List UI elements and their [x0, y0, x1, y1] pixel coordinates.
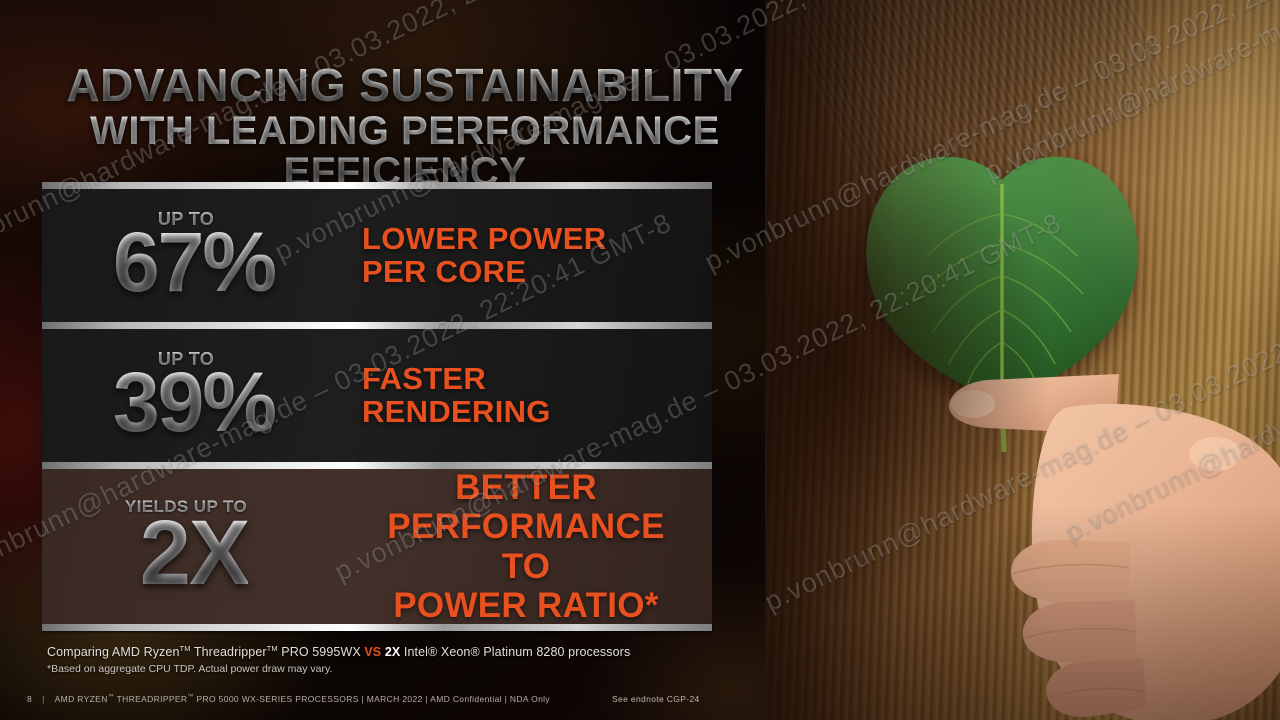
footnote-model: PRO 5995WX [278, 645, 365, 659]
metallic-divider-top [42, 182, 712, 189]
footnote-tm-1: TM [180, 644, 191, 653]
title-line-2: WITH LEADING PERFORMANCE EFFICIENCY [60, 111, 750, 193]
footnote-prefix: Comparing AMD Ryzen [47, 645, 180, 659]
stat-label-line-1: FASTER [362, 363, 712, 396]
footer-meta-prefix: AMD RYZEN [55, 694, 108, 704]
slide-footer: 8 | AMD RYZEN™ THREADRIPPER™ PRO 5000 WX… [0, 688, 765, 710]
photo-lighting-overlay [765, 0, 1280, 720]
stat-label-line-2: PER CORE [362, 256, 712, 289]
stat-value-group: YIELDS UP TO 2X [42, 497, 362, 596]
page-number: 8 [27, 694, 32, 704]
footnote-competitor: Intel® Xeon® Platinum 8280 processors [400, 645, 630, 659]
stat-value-group: UP TO 39% [42, 349, 362, 441]
stat-value: 67% [113, 224, 275, 301]
footer-meta: AMD RYZEN™ THREADRIPPER™ PRO 5000 WX-SER… [55, 694, 550, 704]
footnote-mid: Threadripper [191, 645, 267, 659]
stat-value-group: UP TO 67% [42, 209, 362, 301]
stats-panel: UP TO 67% LOWER POWER PER CORE UP TO 39%… [42, 182, 712, 631]
stat-label-group: BETTER PERFORMANCE TO POWER RATIO* [362, 469, 712, 624]
footer-meta-mid: THREADRIPPER [114, 694, 187, 704]
stat-label-line-1: LOWER POWER [362, 223, 712, 256]
footnote-multiplier: 2X [385, 645, 401, 659]
metallic-divider-1 [42, 322, 712, 329]
stat-value: 2X [140, 511, 249, 596]
page-title: ADVANCING SUSTAINABILITY WITH LEADING PE… [60, 62, 750, 193]
title-line-1: ADVANCING SUSTAINABILITY [60, 62, 750, 109]
stat-label-line-3: POWER RATIO* [362, 586, 712, 624]
footnote-vs: VS [364, 645, 381, 659]
stat-label-line-2: PERFORMANCE TO [362, 507, 712, 585]
stat-label-line-1: BETTER [362, 469, 712, 507]
stat-label-line-2: RENDERING [362, 396, 712, 429]
footnote: Comparing AMD RyzenTM ThreadripperTM PRO… [47, 644, 727, 675]
stat-value: 39% [113, 364, 275, 441]
stat-label-group: LOWER POWER PER CORE [362, 223, 712, 289]
footnote-disclaimer: *Based on aggregate CPU TDP. Actual powe… [47, 663, 727, 675]
footnote-comparison: Comparing AMD RyzenTM ThreadripperTM PRO… [47, 644, 727, 661]
footer-separator: | [42, 694, 45, 704]
metallic-divider-2 [42, 462, 712, 469]
metallic-divider-bottom [42, 624, 712, 631]
stat-label-group: FASTER RENDERING [362, 363, 712, 429]
footer-meta-suffix: PRO 5000 WX-SERIES PROCESSORS | MARCH 20… [194, 694, 550, 704]
stat-row-lower-power: UP TO 67% LOWER POWER PER CORE [42, 189, 712, 322]
footer-endnote: See endnote CGP-24 [612, 694, 700, 704]
footnote-tm-2: TM [267, 644, 278, 653]
stat-row-performance-per-watt: YIELDS UP TO 2X BETTER PERFORMANCE TO PO… [42, 469, 712, 624]
stat-row-faster-rendering: UP TO 39% FASTER RENDERING [42, 329, 712, 462]
lifestyle-photo [765, 0, 1280, 720]
presentation-slide: ADVANCING SUSTAINABILITY WITH LEADING PE… [0, 0, 1280, 720]
